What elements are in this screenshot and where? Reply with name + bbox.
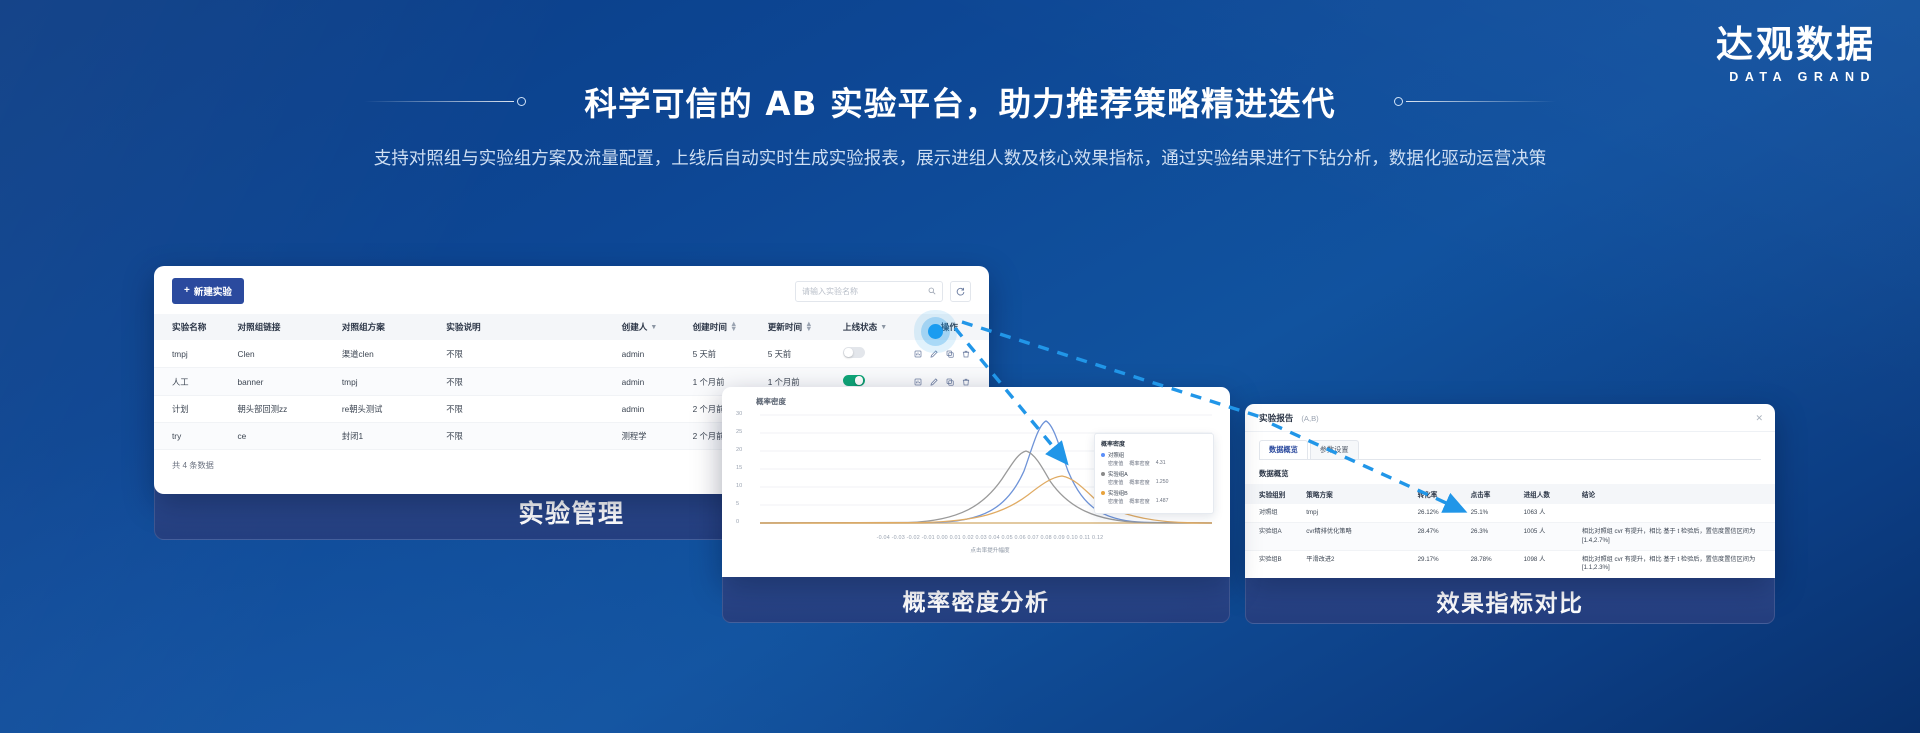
report-tabs: 数据概览 参数设置 [1245,432,1775,459]
filter-icon[interactable]: ▼ [880,324,887,331]
table-row[interactable]: 实验组B 平滑改进2 29.17% 28.78% 1098 人 相比对照组 cv… [1245,551,1775,578]
tooltip-mid: 概率密度 [1129,479,1149,486]
tooltip-item: 实验组A 密度值概率密度1.250 [1101,470,1207,486]
col-label: 更新时间 [768,321,802,333]
density-chart-title: 概率密度 [722,387,1230,407]
delete-icon[interactable] [962,378,970,386]
cell-plan: 封闭1 [342,423,446,450]
report-dialog-header: 实验报告 (A,B) ✕ [1245,404,1775,432]
series-name: 实验组A [1108,470,1128,478]
promo-slide: 达观数据 DATA GRAND 科学可信的 AB 实验平台，助力推荐策略精进迭代… [0,0,1920,733]
search-input[interactable]: 请输入实验名称 [795,281,943,302]
tooltip-mid: 概率密度 [1129,460,1149,467]
cell-link: banner [238,368,342,396]
col-cvr: 转化率 [1415,484,1468,504]
col-users: 进组人数 [1521,484,1579,504]
report-subtitle: (A,B) [1301,414,1318,423]
series-swatch [1101,491,1105,495]
density-screenshot: 概率密度 30 25 20 15 10 5 0 [722,387,1230,577]
report-title: 实验报告 [1259,412,1293,424]
cell-link: 朝头部回测zz [238,396,342,423]
cell-name: 人工 [154,368,238,396]
new-experiment-label: 新建实验 [194,284,232,298]
cell-creator: admin [622,368,693,396]
plus-icon: + [184,286,190,296]
headline-decor-right [1394,97,1556,106]
tooltip-left: 密度值 [1108,498,1123,505]
cell-users: 1098 人 [1521,551,1579,578]
report-icon[interactable] [914,378,922,386]
col-label: 创建时间 [693,321,727,333]
cell-group: 实验组A [1245,523,1303,551]
cell-ctr: 28.78% [1468,551,1521,578]
tooltip-item: 对照组 密度值概率密度4.31 [1101,451,1207,467]
cell-cvr: 28.47% [1415,523,1468,551]
col-control-plan[interactable]: 对照组方案 [342,314,446,340]
cell-users: 1005 人 [1521,523,1579,551]
panel-probability-density: 概率密度 30 25 20 15 10 5 0 [722,387,1230,623]
cell-desc: 不限 [446,423,621,450]
close-icon[interactable]: ✕ [1755,413,1763,424]
cell-creator: admin [622,340,693,368]
tooltip-value: 1.250 [1156,479,1169,486]
cell-link: ce [238,423,342,450]
cell-name: try [154,423,238,450]
brand-logo: 达观数据 DATA GRAND [1716,26,1876,84]
search-placeholder: 请输入实验名称 [802,286,858,297]
tab-data-overview[interactable]: 数据概览 [1259,440,1308,459]
col-description[interactable]: 实验说明 [446,314,621,340]
cell-created: 5 天前 [693,340,768,368]
tooltip-item: 实验组B 密度值概率密度1.487 [1101,489,1207,505]
copy-icon[interactable] [946,350,954,358]
cell-cvr: 26.12% [1415,504,1468,523]
cell-actions [914,340,989,368]
refresh-button[interactable] [950,281,971,302]
panel-metric-comparison: 实验报告 (A,B) ✕ 数据概览 参数设置 数据概览 实验组别 策略方案 转化… [1245,404,1775,624]
cell-conclusion: 相比对照组 cvr 有提升，相比 基于 t 检验后，置信度置信区间为 [1.1,… [1579,551,1775,578]
cell-conclusion: 相比对照组 cvr 有提升，相比 基于 t 检验后，置信度置信区间为 [1.4,… [1579,523,1775,551]
decor-dot-right [1394,97,1403,106]
tooltip-left: 密度值 [1108,479,1123,486]
refresh-icon [956,287,965,296]
col-updated-time[interactable]: 更新时间▲▼ [768,314,843,340]
cell-users: 1063 人 [1521,504,1579,523]
cursor-pointer [928,324,943,339]
page-subtitle: 支持对照组与实验组方案及流量配置，上线后自动实时生成实验报表，展示进组人数及核心… [250,145,1670,173]
cell-conclusion [1579,504,1775,523]
online-toggle[interactable] [843,375,865,386]
online-toggle[interactable] [843,347,865,358]
series-swatch [1101,453,1105,457]
cell-creator: 测程学 [622,423,693,450]
series-name: 实验组B [1108,489,1128,497]
col-ctr: 点击率 [1468,484,1521,504]
metric-table-header-row: 实验组别 策略方案 转化率 点击率 进组人数 结论 [1245,484,1775,504]
filter-icon[interactable]: ▼ [650,324,657,331]
headline-decor-left [364,97,526,106]
cell-group: 实验组B [1245,551,1303,578]
report-section-title: 数据概览 [1245,460,1775,484]
cell-ctr: 26.3% [1468,523,1521,551]
col-conclusion: 结论 [1579,484,1775,504]
cell-online [843,340,914,368]
cell-name: tmpj [154,340,238,368]
cell-plan: tmpj [1303,504,1414,523]
caption-probability-density: 概率密度分析 [722,577,1230,623]
cell-plan: tmpj [342,368,446,396]
metric-table: 实验组别 策略方案 转化率 点击率 进组人数 结论 对照组 tmpj 26.12… [1245,484,1775,578]
cell-desc: 不限 [446,340,621,368]
table-row[interactable]: tmpj Clen 渠道clen 不限 admin 5 天前 5 天前 [154,340,989,368]
page-title: 科学可信的 AB 实验平台，助力推荐策略精进迭代 [584,78,1335,125]
decor-line-right [1406,101,1556,102]
col-actions: 操作 [914,314,989,340]
col-control-link[interactable]: 对照组链接 [238,314,342,340]
tooltip-title: 概率密度 [1101,439,1207,448]
decor-dot-left [517,97,526,106]
series-name: 对照组 [1108,451,1124,459]
experiment-table-header-row: 实验名称 对照组链接 对照组方案 实验说明 创建人▼ 创建时间▲▼ 更新时间▲▼… [154,314,989,340]
cell-cvr: 29.17% [1415,551,1468,578]
brand-name-cn: 达观数据 [1716,26,1876,63]
col-label: 上线状态 [843,321,877,333]
tooltip-mid: 概率密度 [1129,498,1149,505]
experiment-toolbar-right: 请输入实验名称 [795,281,971,302]
density-chart: 30 25 20 15 10 5 0 [722,407,1230,557]
copy-icon[interactable] [946,378,954,386]
tooltip-left: 密度值 [1108,460,1123,467]
cell-desc: 不限 [446,368,621,396]
new-experiment-button[interactable]: + 新建实验 [172,278,244,304]
series-swatch [1101,472,1105,476]
edit-icon[interactable] [930,350,938,358]
cell-updated: 5 天前 [768,340,843,368]
col-label: 对照组方案 [342,321,385,333]
x-axis-label: 点击率提升幅度 [760,546,1220,554]
sort-icon[interactable]: ▲▼ [805,322,812,331]
tooltip-value: 1.487 [1156,498,1169,505]
decor-line-left [364,101,514,102]
table-row[interactable]: 实验组A cvr精排优化策略 28.47% 26.3% 1005 人 相比对照组… [1245,523,1775,551]
cell-desc: 不限 [446,396,621,423]
search-icon [928,287,936,295]
report-icon[interactable] [914,350,922,358]
col-group: 实验组别 [1245,484,1303,504]
x-tick-labels: -0.04 -0.03 -0.02 -0.01 0.00 0.01 0.02 0… [760,535,1220,541]
col-online-status[interactable]: 上线状态▼ [843,314,914,340]
headline-row: 科学可信的 AB 实验平台，助力推荐策略精进迭代 [0,78,1920,125]
cell-plan: 渠道clen [342,340,446,368]
col-label: 对照组链接 [238,321,281,333]
col-created-time[interactable]: 创建时间▲▼ [693,314,768,340]
tab-parameter-settings[interactable]: 参数设置 [1310,440,1359,459]
cell-plan: re朝头测试 [342,396,446,423]
col-label: 操作 [941,321,958,333]
cell-ctr: 25.1% [1468,504,1521,523]
cell-group: 对照组 [1245,504,1303,523]
cell-plan: cvr精排优化策略 [1303,523,1414,551]
cell-link: Clen [238,340,342,368]
density-tooltip: 概率密度 对照组 密度值概率密度4.31 实验组A 密度值概率密度1.250 实… [1094,433,1214,514]
col-label: 实验名称 [172,321,206,333]
tooltip-value: 4.31 [1156,460,1166,467]
cell-creator: admin [622,396,693,423]
col-creator[interactable]: 创建人▼ [622,314,693,340]
cell-plan: 平滑改进2 [1303,551,1414,578]
cell-name: 计划 [154,396,238,423]
edit-icon[interactable] [930,378,938,386]
table-row[interactable]: 对照组 tmpj 26.12% 25.1% 1063 人 [1245,504,1775,523]
col-plan: 策略方案 [1303,484,1414,504]
col-label: 实验说明 [446,321,480,333]
experiment-toolbar: + 新建实验 请输入实验名称 [154,266,989,314]
caption-metric-comparison: 效果指标对比 [1245,578,1775,624]
col-label: 创建人 [622,321,648,333]
sort-icon[interactable]: ▲▼ [730,322,737,331]
col-experiment-name[interactable]: 实验名称 [154,314,238,340]
report-screenshot: 实验报告 (A,B) ✕ 数据概览 参数设置 数据概览 实验组别 策略方案 转化… [1245,404,1775,578]
delete-icon[interactable] [962,350,970,358]
